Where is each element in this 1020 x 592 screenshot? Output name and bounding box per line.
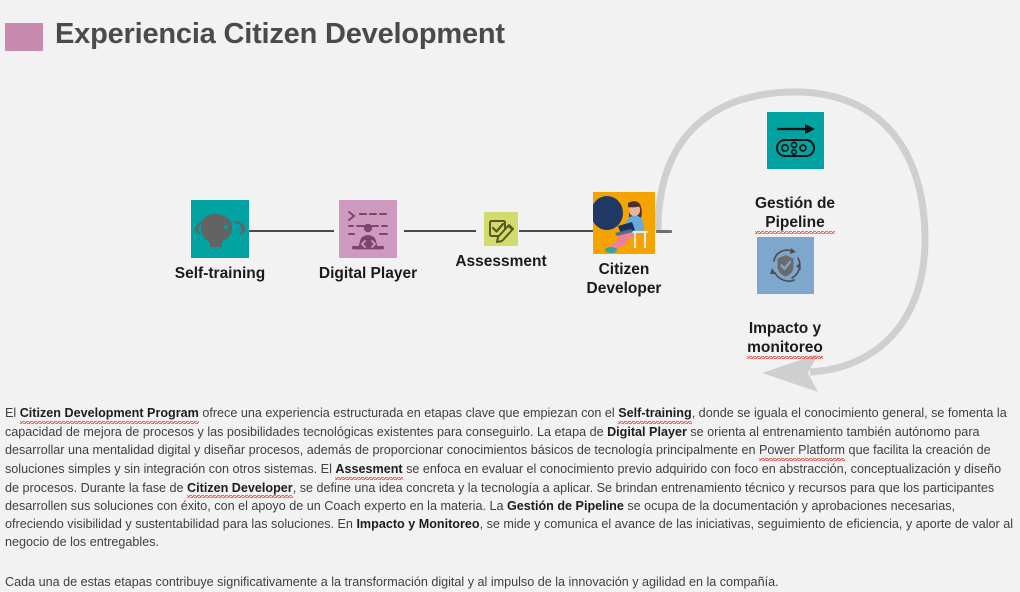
checkbox-pencil-icon: [484, 212, 518, 246]
body-text-run: El: [5, 406, 20, 420]
bold-term: Citizen Developer: [187, 481, 293, 495]
page-header: Experiencia Citizen Development: [0, 0, 1020, 70]
diagram-node-self-training[interactable]: Self-training: [152, 200, 288, 284]
head-knowledge-icon: [191, 200, 249, 258]
cycle-check-icon: [757, 237, 814, 294]
title-accent-swatch: [5, 23, 43, 51]
misspelled-word: Citizen Developer: [187, 480, 293, 499]
bold-term: Impacto y Monitoreo: [356, 517, 479, 531]
paragraph-1: El Citizen Development Program ofrece un…: [5, 405, 1013, 552]
misspelled-word: Citizen Development Program: [20, 405, 199, 424]
misspelled-word: Assesment: [335, 461, 402, 480]
diagram-node-label: Citizen Developer: [556, 261, 692, 299]
misspelled-word: Self-training: [618, 405, 691, 424]
citizen-development-diagram: Self-training: [0, 70, 1020, 395]
diagram-node-gestion-pipeline[interactable]: Gestión de Pipeline: [722, 112, 868, 234]
code-terminal-person-icon: [339, 200, 397, 258]
bold-term: Gestión de Pipeline: [507, 499, 624, 513]
bold-term: Citizen Development Program: [20, 406, 199, 420]
diagram-node-label: Digital Player: [298, 265, 438, 284]
diagram-node-impacto-monitoreo[interactable]: Impacto y monitoreo: [712, 237, 858, 359]
bold-term: Assesment: [335, 462, 402, 476]
person-laptop-icon: [593, 192, 655, 254]
diagram-node-label: Assessment: [435, 253, 567, 272]
bold-term: Self-training: [618, 406, 691, 420]
misspelled-word: Gestión de Pipeline: [755, 195, 835, 234]
bold-term: Digital Player: [607, 425, 687, 439]
pipeline-arrow-icon: [767, 112, 824, 169]
diagram-node-label: Self-training: [152, 265, 288, 284]
paragraph-spacer: [5, 552, 1013, 574]
misspelled-word: Power Platform: [759, 442, 845, 461]
diagram-node-label: Gestión de Pipeline: [722, 176, 868, 234]
diagram-node-digital-player[interactable]: Digital Player: [298, 200, 438, 284]
paragraph-2: Cada una de estas etapas contribuye sign…: [5, 574, 1013, 592]
body-text-run: ofrece una experiencia estructurada en e…: [199, 406, 618, 420]
body-text-run: Power Platform: [759, 443, 845, 457]
diagram-node-assessment[interactable]: Assessment: [435, 212, 567, 272]
page-title: Experiencia Citizen Development: [55, 18, 505, 51]
diagram-node-citizen-developer[interactable]: Citizen Developer: [556, 192, 692, 299]
body-copy: El Citizen Development Program ofrece un…: [5, 405, 1013, 592]
diagram-node-label: Impacto y monitoreo: [712, 301, 858, 359]
misspelled-word: Impacto y monitoreo: [747, 320, 823, 359]
